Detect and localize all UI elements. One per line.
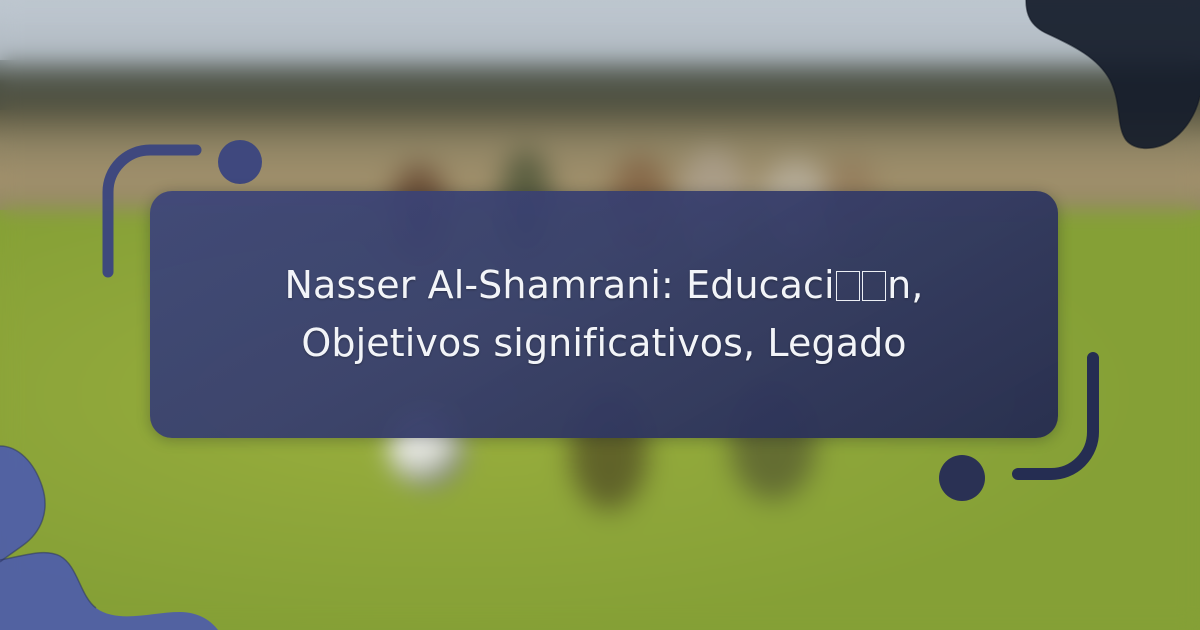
page-title: Nasser Al-Shamrani: Educacin, Objetivos … [170,257,1038,373]
share-card-canvas: Nasser Al-Shamrani: Educacin, Objetivos … [0,0,1200,630]
title-segment-line-two: significativos, Legado [493,321,906,365]
missing-glyph-box-icon [862,271,886,301]
title-segment-before-glyph: Nasser Al-Shamrani: Educaci [285,263,835,307]
missing-glyph-box-icon [836,271,860,301]
hero-card: Nasser Al-Shamrani: Educacin, Objetivos … [150,191,1058,438]
